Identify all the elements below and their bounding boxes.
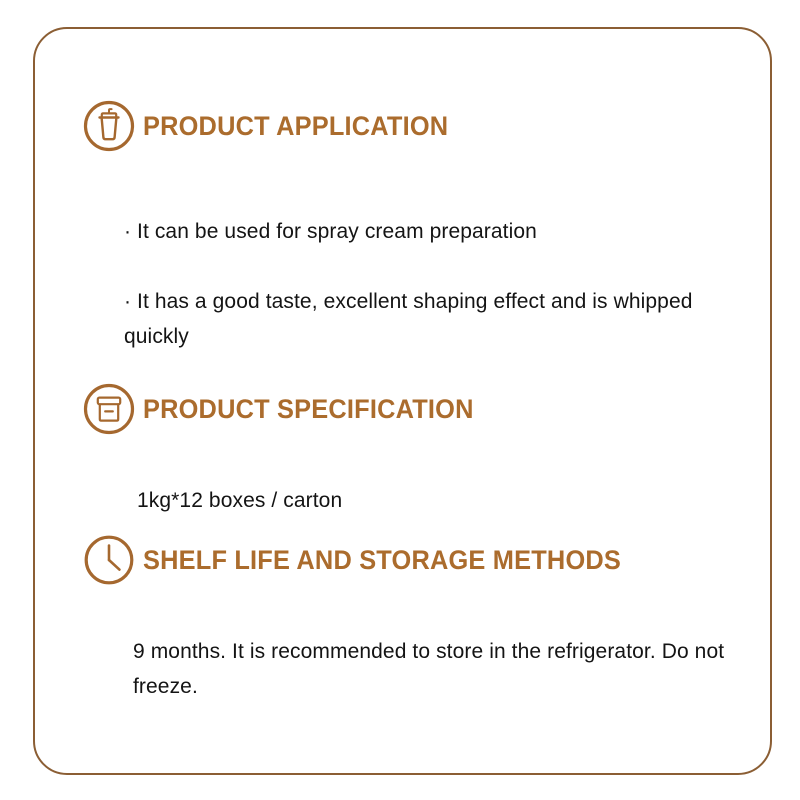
archive-box-icon [80,380,138,438]
body-line: 9 months. It is recommended to store in … [133,634,753,704]
section-shelf-life-and-storage-methods: SHELF LIFE AND STORAGE METHODS 9 months.… [0,531,800,589]
section-body: · It can be used for spray cream prepara… [124,179,694,389]
card-content: PRODUCT APPLICATION · It can be used for… [0,0,800,800]
section-title: PRODUCT SPECIFICATION [143,380,474,438]
section-body: 9 months. It is recommended to store in … [133,599,753,739]
body-line: 1kg*12 boxes / carton [137,483,697,518]
product-info-card: PRODUCT APPLICATION · It can be used for… [0,0,800,800]
body-line: · It has a good taste, excellent shaping… [124,284,694,354]
cup-shaker-icon [80,97,138,155]
clock-icon [80,531,138,589]
section-header: PRODUCT SPECIFICATION [0,380,800,438]
section-header: SHELF LIFE AND STORAGE METHODS [0,531,800,589]
section-title: SHELF LIFE AND STORAGE METHODS [143,531,621,589]
body-line: · It can be used for spray cream prepara… [124,214,694,249]
section-product-application: PRODUCT APPLICATION · It can be used for… [0,97,800,155]
section-header: PRODUCT APPLICATION [0,97,800,155]
section-title: PRODUCT APPLICATION [143,97,448,155]
section-product-specification: PRODUCT SPECIFICATION 1kg*12 boxes / car… [0,380,800,438]
